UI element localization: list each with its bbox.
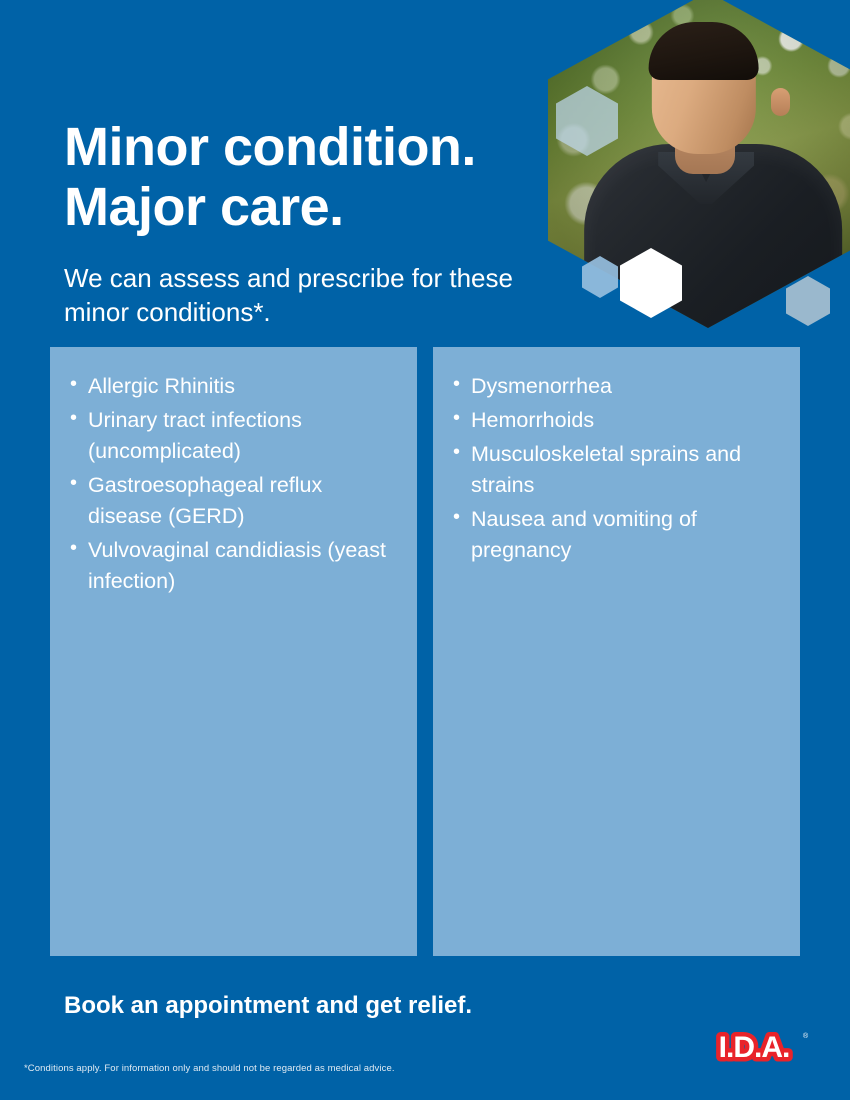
list-item: Musculoskeletal sprains and strains [449, 439, 782, 501]
ida-logo-text: I.D.A. [719, 1031, 790, 1064]
ida-logo-icon: I.D.A. I.D.A. ® [700, 1026, 812, 1066]
poster-root: Minor condition. Major care. We can asse… [0, 0, 850, 1100]
conditions-list-right: Dysmenorrhea Hemorrhoids Musculoskeletal… [433, 347, 800, 566]
page-title: Minor condition. Major care. [64, 118, 584, 238]
list-item: Dysmenorrhea [449, 371, 782, 402]
list-item: Allergic Rhinitis [66, 371, 399, 402]
headline-line-1: Minor condition. [64, 118, 584, 178]
hexagon-icon-right-edge [786, 276, 830, 326]
subheading: We can assess and prescribe for these mi… [64, 262, 564, 330]
list-item: Gastroesophageal reflux disease (GERD) [66, 470, 399, 532]
ida-logo-trademark-icon: ® [803, 1032, 809, 1040]
subheading-line-2: minor conditions*. [64, 296, 564, 330]
list-item: Hemorrhoids [449, 405, 782, 436]
conditions-list-left: Allergic Rhinitis Urinary tract infectio… [50, 347, 417, 597]
conditions-card-right: Dysmenorrhea Hemorrhoids Musculoskeletal… [433, 347, 800, 956]
cta-text: Book an appointment and get relief. [64, 992, 472, 1020]
list-item: Vulvovaginal candidiasis (yeast infectio… [66, 535, 399, 597]
hero-person-ear [771, 88, 790, 116]
list-item: Nausea and vomiting of pregnancy [449, 504, 782, 566]
disclaimer-text: *Conditions apply. For information only … [24, 1063, 395, 1074]
ida-logo: I.D.A. I.D.A. ® [700, 1026, 812, 1066]
headline-line-2: Major care. [64, 178, 584, 238]
conditions-card-left: Allergic Rhinitis Urinary tract infectio… [50, 347, 417, 956]
list-item: Urinary tract infections (uncomplicated) [66, 405, 399, 467]
subheading-line-1: We can assess and prescribe for these [64, 262, 564, 296]
